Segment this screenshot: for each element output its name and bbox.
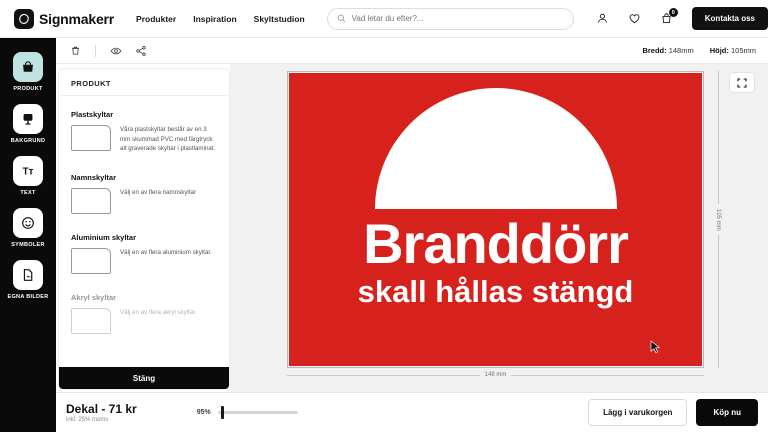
tool-sidebar: PRODUKT BAKGRUND Tт TEXT SYMBOLER EGNA B… (0, 38, 56, 432)
sidebar-item-bakgrund[interactable]: BAKGRUND (0, 104, 56, 144)
skyltstudion-app: Signmakerr Produkter Inspiration Skyltst… (0, 0, 768, 432)
dome-shape-icon (375, 88, 617, 209)
ruler-height-label: 105 mm (715, 209, 721, 231)
site-header: Signmakerr Produkter Inspiration Skyltst… (0, 0, 768, 38)
product-item-namnskyltar[interactable]: Namnskyltar Välj en av flera namnskyltar (71, 173, 217, 214)
add-to-cart-button[interactable]: Lägg i varukorgen (588, 399, 687, 426)
buy-now-button[interactable]: Köp nu (696, 399, 758, 426)
product-icon (13, 52, 43, 82)
nav-item-skyltstudion[interactable]: Skyltstudion (254, 14, 305, 24)
width-label: Bredd: (642, 46, 666, 55)
product-description: Välj en av flera aluminium skyltar. (120, 248, 212, 274)
zoom-control[interactable]: 95% (197, 409, 298, 416)
account-icon[interactable] (596, 12, 609, 25)
toolbar-divider (95, 45, 96, 57)
sign-object[interactable]: Branddörr skall hållas stängd (287, 71, 704, 368)
price-subtitle: inkl. 25% moms (66, 417, 137, 423)
panel-title: PRODUKT (59, 69, 229, 96)
svg-text:Tт: Tт (23, 167, 34, 178)
sidebar-label-symboler: SYMBOLER (11, 242, 45, 248)
panel-product-list: Plastskyltar Våra plastskyltar består av… (59, 96, 229, 334)
product-item-akryl-skyltar[interactable]: Akryl skyltar Välj en av flera akryl sky… (71, 293, 217, 334)
vertical-ruler: 105 mm (711, 71, 725, 368)
sidebar-item-egna-bilder[interactable]: EGNA BILDER (0, 260, 56, 300)
price-title: Dekal - 71 kr (66, 402, 137, 416)
design-canvas[interactable]: Branddörr skall hållas stängd 148 mm 105… (230, 64, 768, 392)
bottom-actions: Lägg i varukorgen Köp nu (588, 399, 758, 426)
height-value: 105mm (731, 46, 756, 55)
ruler-line-top (718, 71, 719, 204)
text-icon: Tт (13, 156, 43, 186)
search-icon (337, 10, 346, 28)
width-value: 148mm (669, 46, 694, 55)
fullscreen-button[interactable] (729, 72, 755, 93)
logo-pebble-icon (14, 9, 34, 29)
panel-fade-overlay (59, 333, 229, 367)
product-item-aluminium-skyltar[interactable]: Aluminium skyltar Välj en av flera alumi… (71, 233, 217, 274)
zoom-slider-handle[interactable] (221, 406, 224, 419)
share-icon[interactable] (133, 43, 148, 58)
search-bar[interactable] (327, 8, 574, 30)
product-name: Namnskyltar (71, 173, 217, 182)
cart-count-badge: 0 (669, 8, 678, 17)
ruler-line-right (511, 375, 704, 376)
sign-artwork[interactable]: Branddörr skall hållas stängd (289, 73, 702, 366)
sidebar-label-egna-bilder: EGNA BILDER (8, 294, 49, 300)
sidebar-label-text: TEXT (20, 190, 35, 196)
bottom-bar: Dekal - 71 kr inkl. 25% moms 95% Lägg i … (56, 392, 768, 432)
sidebar-item-produkt[interactable]: PRODUKT (0, 52, 56, 92)
product-thumbnail-icon (71, 125, 111, 151)
sign-text-line1[interactable]: Branddörr (289, 216, 702, 272)
sidebar-label-produkt: PRODUKT (13, 86, 42, 92)
product-name: Plastskyltar (71, 110, 217, 119)
toolbar-left-group (68, 43, 148, 58)
zoom-value: 95% (197, 409, 211, 416)
height-label: Höjd: (710, 46, 729, 55)
preview-eye-icon[interactable] (108, 43, 123, 58)
nav-item-produkter[interactable]: Produkter (136, 14, 176, 24)
ruler-line-left (287, 375, 480, 376)
panel-close-button[interactable]: Stäng (59, 367, 229, 389)
product-panel: PRODUKT Plastskyltar Våra plastskyltar b… (58, 68, 230, 390)
smiley-icon (13, 208, 43, 238)
zoom-slider[interactable] (218, 411, 298, 414)
sidebar-item-text[interactable]: Tт TEXT (0, 156, 56, 196)
product-thumbnail-icon (71, 248, 111, 274)
canvas-width: Bredd: 148mm (642, 46, 693, 55)
nav-item-inspiration[interactable]: Inspiration (193, 14, 236, 24)
header-icon-group: 0 (596, 12, 673, 25)
horizontal-ruler: 148 mm (287, 372, 704, 378)
brand-logo[interactable]: Signmakerr (14, 9, 114, 29)
product-item-plastskyltar[interactable]: Plastskyltar Våra plastskyltar består av… (71, 110, 217, 154)
editor-toolbar: Bredd: 148mm Höjd: 105mm (56, 38, 768, 64)
sidebar-item-symboler[interactable]: SYMBOLER (0, 208, 56, 248)
upload-image-icon (13, 260, 43, 290)
main-nav: Produkter Inspiration Skyltstudion (136, 14, 305, 24)
search-input[interactable] (352, 14, 564, 23)
product-thumbnail-icon (71, 188, 111, 214)
product-name: Akryl skyltar (71, 293, 217, 302)
cart-icon[interactable]: 0 (660, 12, 673, 25)
price-block: Dekal - 71 kr inkl. 25% moms (66, 402, 137, 423)
product-description: Välj en av flera akryl skyltar. (120, 308, 197, 334)
wishlist-heart-icon[interactable] (628, 12, 641, 25)
mouse-cursor-icon (650, 340, 661, 359)
ruler-width-label: 148 mm (485, 372, 507, 378)
trash-icon[interactable] (68, 43, 83, 58)
ruler-line-bottom (718, 235, 719, 368)
contact-button[interactable]: Kontakta oss (692, 7, 768, 30)
sign-text-line2[interactable]: skall hållas stängd (289, 276, 702, 307)
product-name: Aluminium skyltar (71, 233, 217, 242)
product-description: Våra plastskyltar består av en 3 mm skum… (120, 125, 217, 154)
product-description: Välj en av flera namnskyltar (120, 188, 196, 214)
product-thumbnail-icon (71, 308, 111, 334)
brand-name: Signmakerr (39, 11, 114, 27)
background-icon (13, 104, 43, 134)
canvas-height: Höjd: 105mm (710, 46, 756, 55)
canvas-dimensions: Bredd: 148mm Höjd: 105mm (642, 46, 756, 55)
sidebar-label-bakgrund: BAKGRUND (11, 138, 45, 144)
